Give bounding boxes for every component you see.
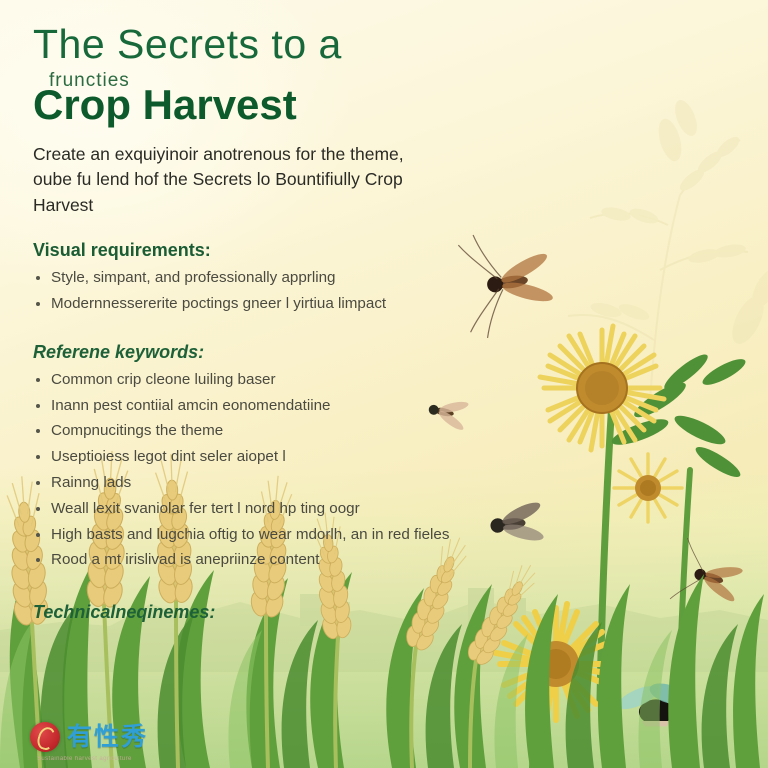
list-item: Rainng lads [33,472,453,495]
reference-keywords-list: Common crip cleone luiling baser Inann p… [33,369,453,572]
leaf-circle-icon [30,722,60,752]
page-title: The Secrets to a fruncties Crop Harvest [33,24,453,126]
list-item: High basts and lugchia oftig to wear mdo… [33,524,453,547]
poster-text-block: The Secrets to a fruncties Crop Harvest … [33,24,453,623]
list-item: Modernnessererite poctings gneer l yirti… [33,293,453,316]
section-heading-visual: Visual requirements: [33,240,453,261]
list-item: Style, simpant, and professionally apprl… [33,267,453,290]
list-item: Useptioiess legot dint seler aiopet l [33,446,453,469]
list-item: Rood a mt irislivad is anepriinze conten… [33,549,453,572]
brand-logo: 有性秀 [30,722,148,752]
list-item: Common crip cleone luiling baser [33,369,453,392]
title-line-1: The Secrets to a [33,24,453,65]
list-item: Inann pest contiial amcin eonomendatiine [33,395,453,418]
visual-requirements-list: Style, simpant, and professionally apprl… [33,267,453,316]
list-item: Compnucitings the theme [33,420,453,443]
intro-paragraph: Create an exquiyinoir anotrenous for the… [33,142,433,218]
logo-subtext: Sustainable harvest agriculture [37,756,132,762]
logo-wordmark: 有性秀 [67,725,148,750]
list-item: Weall lexit svaniolar fer tert l nord hp… [33,498,453,521]
title-line-2: Crop Harvest [33,84,453,126]
poster-canvas: The Secrets to a fruncties Crop Harvest … [0,0,768,768]
section-heading-keywords: Referene keywords: [33,342,453,363]
section-heading-technical: Technicalneqinemes: [33,602,453,623]
